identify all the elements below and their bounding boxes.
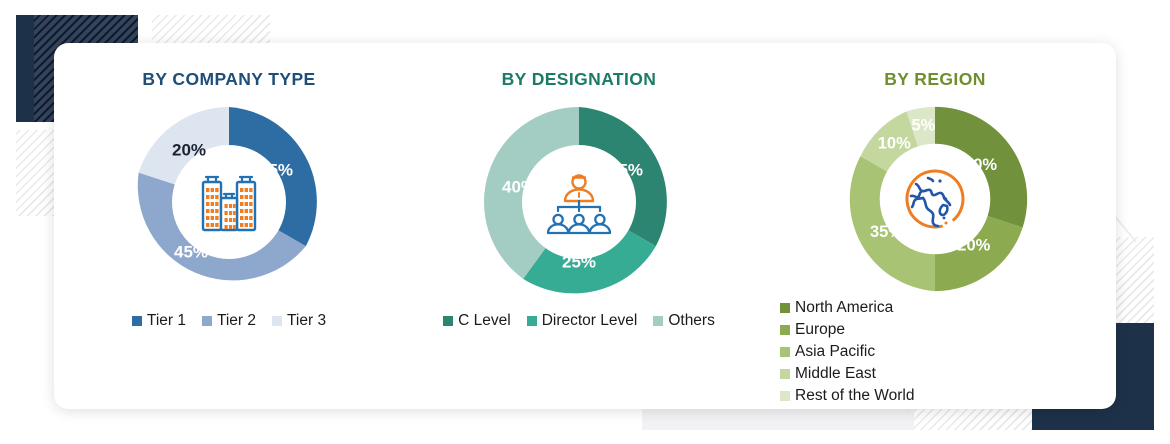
legend-item-asia-pacific[interactable]: Asia Pacific [780,343,948,361]
panel-title-by-designation: BY DESIGNATION [502,69,657,90]
legend-swatch-north-america [780,303,790,313]
legend-swatch-europe [780,325,790,335]
slice-value-rest-of-the-world: 5% [911,116,935,134]
legend-label-north-america: North America [795,299,893,317]
legend-swatch-middle-east [780,369,790,379]
legend-swatch-tier-2 [202,316,212,326]
legend-label-tier-3: Tier 3 [287,312,326,330]
slice-value-others: 40% [502,178,536,197]
legend-item-north-america[interactable]: North America [780,299,948,317]
content-card: BY COMPANY TYPE 35% 45% 20% [54,43,1116,409]
legend-by-designation: C Level Director Level Others [404,312,754,330]
legend-label-middle-east: Middle East [795,365,876,383]
legend-swatch-rest-of-the-world [780,391,790,401]
legend-item-tier-3[interactable]: Tier 3 [272,312,326,330]
slice-value-director-level: 25% [562,253,596,272]
legend-item-director-level[interactable]: Director Level [527,312,638,330]
legend-swatch-tier-3 [272,316,282,326]
legend-swatch-c-level [443,316,453,326]
legend-item-tier-2[interactable]: Tier 2 [202,312,256,330]
donut-chart-by-region: 30% 20% 35% 10% 5% [838,102,1032,296]
legend-label-others: Others [668,312,715,330]
legend-item-middle-east[interactable]: Middle East [780,365,910,383]
org-chart-icon [533,156,625,248]
legend-label-tier-2: Tier 2 [217,312,256,330]
panel-title-by-region: BY REGION [884,69,986,90]
legend-swatch-director-level [527,316,537,326]
legend-by-company-type: Tier 1 Tier 2 Tier 3 [54,312,404,330]
legend-item-c-level[interactable]: C Level [443,312,511,330]
panel-title-by-company-type: BY COMPANY TYPE [142,69,315,90]
donut-chart-by-designation: 35% 25% 40% [479,102,679,302]
legend-label-rest-of-the-world: Rest of the World [795,387,914,405]
legend-item-rest-of-the-world[interactable]: Rest of the World [780,387,948,405]
panel-by-designation: BY DESIGNATION 35% 25% 40% [404,61,754,409]
buildings-icon [183,156,275,248]
legend-item-others[interactable]: Others [653,312,715,330]
slice-value-middle-east: 10% [878,135,911,153]
legend-label-tier-1: Tier 1 [147,312,186,330]
legend-label-europe: Europe [795,321,845,339]
legend-item-europe[interactable]: Europe [780,321,910,339]
legend-label-c-level: C Level [458,312,511,330]
legend-by-region: North America Europe Asia Pacific Middle… [754,299,1054,407]
legend-swatch-asia-pacific [780,347,790,357]
panel-by-region: BY REGION 30% [754,61,1116,409]
globe-icon [889,153,981,245]
legend-item-tier-1[interactable]: Tier 1 [132,312,186,330]
legend-label-asia-pacific: Asia Pacific [795,343,875,361]
panel-by-company-type: BY COMPANY TYPE 35% 45% 20% [54,61,404,409]
legend-swatch-others [653,316,663,326]
legend-swatch-tier-1 [132,316,142,326]
infographic-root: BY COMPANY TYPE 35% 45% 20% [0,0,1170,444]
donut-chart-by-company-type: 35% 45% 20% [129,102,329,302]
legend-label-director-level: Director Level [542,312,638,330]
